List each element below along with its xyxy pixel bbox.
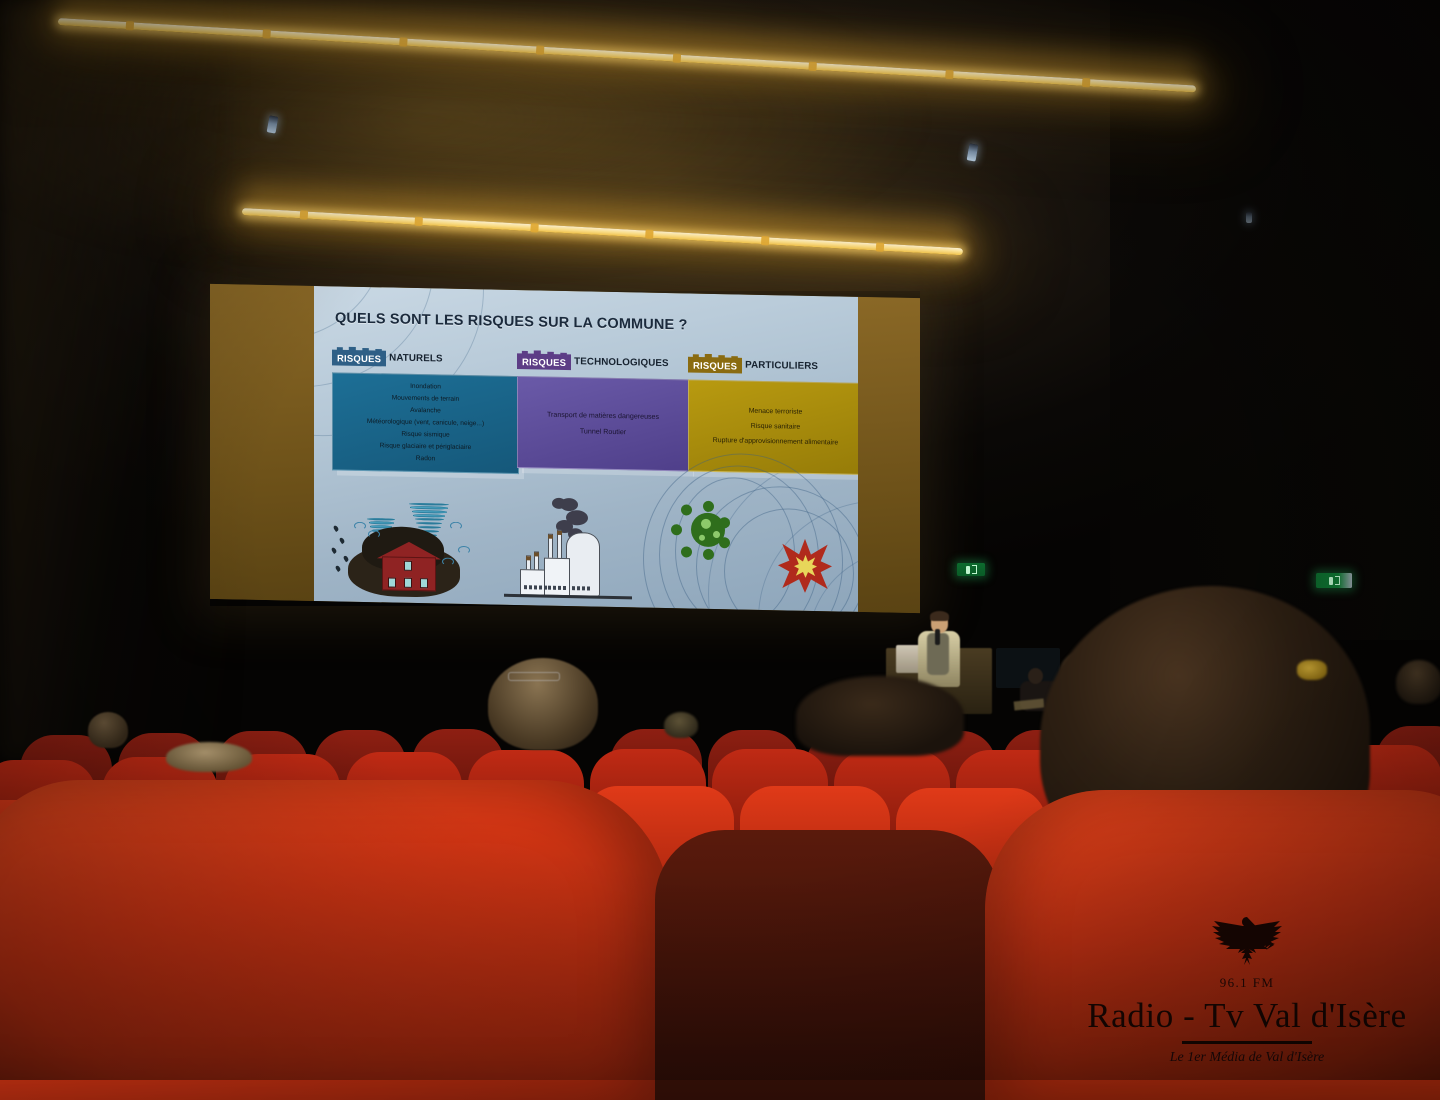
virus-and-explosion-icons: [665, 500, 840, 608]
risk-item: Mouvements de terrain: [392, 394, 459, 405]
exit-sign-right: [1316, 573, 1352, 588]
foreground-seat-left: [0, 780, 670, 1100]
risk-panel-technologiques: Transport de matières dangereuses Tunnel…: [517, 376, 689, 471]
letterbox-band-right: [858, 297, 920, 613]
tab-badge-risques: RISQUES: [517, 355, 571, 370]
risk-item: Risque sismique: [401, 430, 449, 441]
tab-badge-risques: RISQUES: [688, 358, 742, 373]
light-strip-lower: [242, 208, 963, 255]
presentation-slide: QUELS SONT LES RISQUES SUR LA COMMUNE ? …: [314, 286, 858, 612]
audience-head: [88, 712, 128, 748]
category-tab-particuliers: RISQUESPARTICULIERS: [688, 358, 858, 379]
category-column-naturels: RISQUESNATURELS Inondation Mouvements de…: [332, 351, 519, 474]
slide-illustrations: [314, 489, 858, 612]
microphone-icon: [935, 629, 940, 645]
tab-badge-risques: RISQUES: [332, 351, 386, 366]
category-tab-naturels: RISQUESNATURELS: [332, 351, 519, 372]
projection-screen: QUELS SONT LES RISQUES SUR LA COMMUNE ? …: [210, 291, 920, 606]
tornado-house-landslide-icon: [330, 499, 482, 598]
ceiling-spot-right: [967, 143, 979, 161]
auditorium-room: QUELS SONT LES RISQUES SUR LA COMMUNE ? …: [0, 0, 1440, 1080]
eyeglasses: [508, 672, 560, 681]
audience-head: [664, 712, 698, 738]
risk-item: Avalanche: [410, 406, 441, 416]
risk-item: Inondation: [410, 382, 441, 392]
hair-clip: [1297, 660, 1327, 680]
ceiling-spot-left: [267, 115, 279, 133]
category-column-technologiques: RISQUESTECHNOLOGIQUES Transport de matiè…: [517, 355, 689, 471]
ceiling-spot-far-right: [1246, 212, 1252, 223]
risk-item: Radon: [416, 454, 435, 464]
projected-image: QUELS SONT LES RISQUES SUR LA COMMUNE ? …: [210, 284, 920, 613]
tab-label-technologiques: TECHNOLOGIQUES: [571, 356, 668, 369]
foreground-seat-gap: [655, 830, 1000, 1100]
tab-label-particuliers: PARTICULIERS: [742, 360, 818, 373]
letterbox-band-left: [210, 284, 314, 601]
risk-item: Risque glaciaire et périglaciaire: [380, 442, 472, 453]
tab-label-naturels: NATURELS: [386, 352, 442, 364]
category-tab-technologiques: RISQUESTECHNOLOGIQUES: [517, 355, 689, 375]
risk-panel-naturels: Inondation Mouvements de terrain Avalanc…: [332, 372, 519, 474]
right-wall: [1110, 0, 1440, 640]
risk-item: Transport de matières dangereuses: [547, 410, 659, 423]
audience-head: [166, 742, 252, 772]
risk-item: Risque sanitaire: [751, 422, 800, 433]
industrial-plant-smokestack-icon: [504, 497, 634, 604]
audience-head: [1396, 660, 1440, 704]
risk-item: Menace terroriste: [749, 407, 803, 418]
left-wall: [0, 0, 230, 760]
foreground-head-center: [796, 676, 964, 756]
presenter-with-microphone: [915, 613, 963, 685]
risk-item: Météorologique (vent, canicule, neige...…: [367, 417, 484, 429]
risk-item: Tunnel Routier: [580, 426, 626, 437]
risk-item: Rupture d'approvisionnement alimentaire: [713, 436, 838, 449]
foreground-seat-right: [985, 790, 1440, 1100]
exit-sign-left: [957, 563, 985, 576]
